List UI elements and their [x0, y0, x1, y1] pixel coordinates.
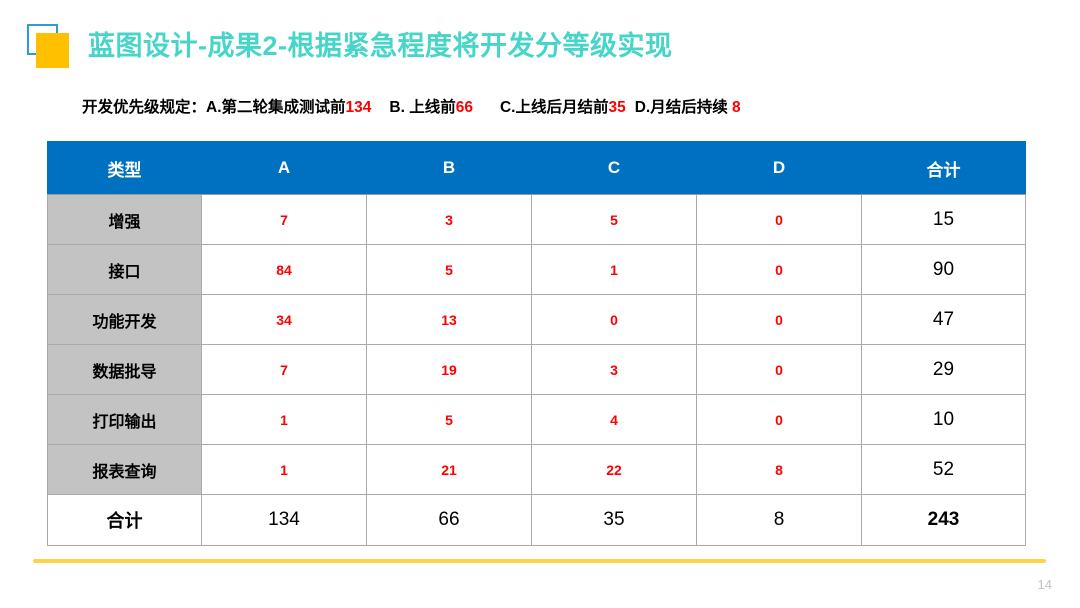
table-header-row: 类型 A B C D 合计 — [48, 142, 1026, 195]
row-label: 数据批导 — [48, 345, 202, 395]
table-row: 数据批导 7 19 3 0 29 — [48, 345, 1026, 395]
total-row-label: 合计 — [48, 495, 202, 546]
cell-b: 5 — [367, 245, 532, 295]
priority-legend-seg-1-text: B. 上线前 — [389, 99, 455, 116]
column-header-b: B — [367, 142, 532, 195]
cell-d: 0 — [697, 345, 862, 395]
cell-c: 1 — [532, 245, 697, 295]
cell-b: 21 — [367, 445, 532, 495]
cell-c: 5 — [532, 195, 697, 245]
priority-legend-seg-3-value: 8 — [732, 99, 741, 116]
cell-c: 4 — [532, 395, 697, 445]
table-row: 接口 84 5 1 0 90 — [48, 245, 1026, 295]
column-header-type: 类型 — [48, 142, 202, 195]
cell-total: 29 — [862, 345, 1026, 395]
priority-legend-seg-2-value: 35 — [608, 99, 625, 116]
cell-total: 47 — [862, 295, 1026, 345]
cell-a: 1 — [202, 445, 367, 495]
priority-legend-seg-0-text: A.第二轮集成测试前 — [206, 99, 346, 116]
cell-a: 7 — [202, 345, 367, 395]
row-label: 增强 — [48, 195, 202, 245]
table-header: 类型 A B C D 合计 — [48, 142, 1026, 195]
cell-c: 0 — [532, 295, 697, 345]
row-label: 接口 — [48, 245, 202, 295]
table-body: 增强 7 3 5 0 15 接口 84 5 1 0 90 功能开发 34 13 … — [48, 195, 1026, 546]
cell-d: 0 — [697, 195, 862, 245]
table-row: 功能开发 34 13 0 0 47 — [48, 295, 1026, 345]
row-label: 报表查询 — [48, 445, 202, 495]
priority-legend-seg-3-text: D.月结后持续 — [635, 99, 732, 116]
cell-d: 8 — [697, 445, 862, 495]
table-total-row: 合计 134 66 35 8 243 — [48, 495, 1026, 546]
column-header-c: C — [532, 142, 697, 195]
page-number: 14 — [1038, 577, 1052, 593]
table-row: 增强 7 3 5 0 15 — [48, 195, 1026, 245]
row-label: 打印输出 — [48, 395, 202, 445]
cell-b: 3 — [367, 195, 532, 245]
total-cell-b: 66 — [367, 495, 532, 546]
logo-solid-square-icon — [36, 33, 69, 68]
cell-d: 0 — [697, 245, 862, 295]
total-cell-a: 134 — [202, 495, 367, 546]
cell-a: 34 — [202, 295, 367, 345]
cell-total: 10 — [862, 395, 1026, 445]
grand-total-cell: 243 — [862, 495, 1026, 546]
priority-legend-seg-2-text: C.上线后月结前 — [500, 99, 609, 116]
cell-d: 0 — [697, 395, 862, 445]
priority-legend-seg-0-value: 134 — [346, 99, 372, 116]
logo-mark — [27, 24, 71, 70]
priority-legend-seg-1-value: 66 — [456, 99, 473, 116]
cell-b: 5 — [367, 395, 532, 445]
table-row: 报表查询 1 21 22 8 52 — [48, 445, 1026, 495]
slide-header: 蓝图设计-成果2-根据紧急程度将开发分等级实现 — [0, 0, 1080, 90]
cell-c: 3 — [532, 345, 697, 395]
cell-a: 1 — [202, 395, 367, 445]
cell-a: 7 — [202, 195, 367, 245]
cell-b: 19 — [367, 345, 532, 395]
cell-c: 22 — [532, 445, 697, 495]
total-cell-d: 8 — [697, 495, 862, 546]
table-row: 打印输出 1 5 4 0 10 — [48, 395, 1026, 445]
cell-total: 90 — [862, 245, 1026, 295]
cell-d: 0 — [697, 295, 862, 345]
cell-total: 15 — [862, 195, 1026, 245]
page-title: 蓝图设计-成果2-根据紧急程度将开发分等级实现 — [88, 27, 673, 65]
priority-legend: 开发优先级规定：A.第二轮集成测试前134B. 上线前66C.上线后月结前35D… — [82, 97, 741, 119]
cell-b: 13 — [367, 295, 532, 345]
total-cell-c: 35 — [532, 495, 697, 546]
cell-a: 84 — [202, 245, 367, 295]
column-header-total: 合计 — [862, 142, 1026, 195]
cell-total: 52 — [862, 445, 1026, 495]
column-header-d: D — [697, 142, 862, 195]
row-label: 功能开发 — [48, 295, 202, 345]
column-header-a: A — [202, 142, 367, 195]
priority-legend-label: 开发优先级规定： — [82, 99, 206, 116]
footer-divider — [33, 559, 1046, 563]
development-priority-table: 类型 A B C D 合计 增强 7 3 5 0 15 接口 84 5 1 0 … — [47, 141, 1026, 546]
